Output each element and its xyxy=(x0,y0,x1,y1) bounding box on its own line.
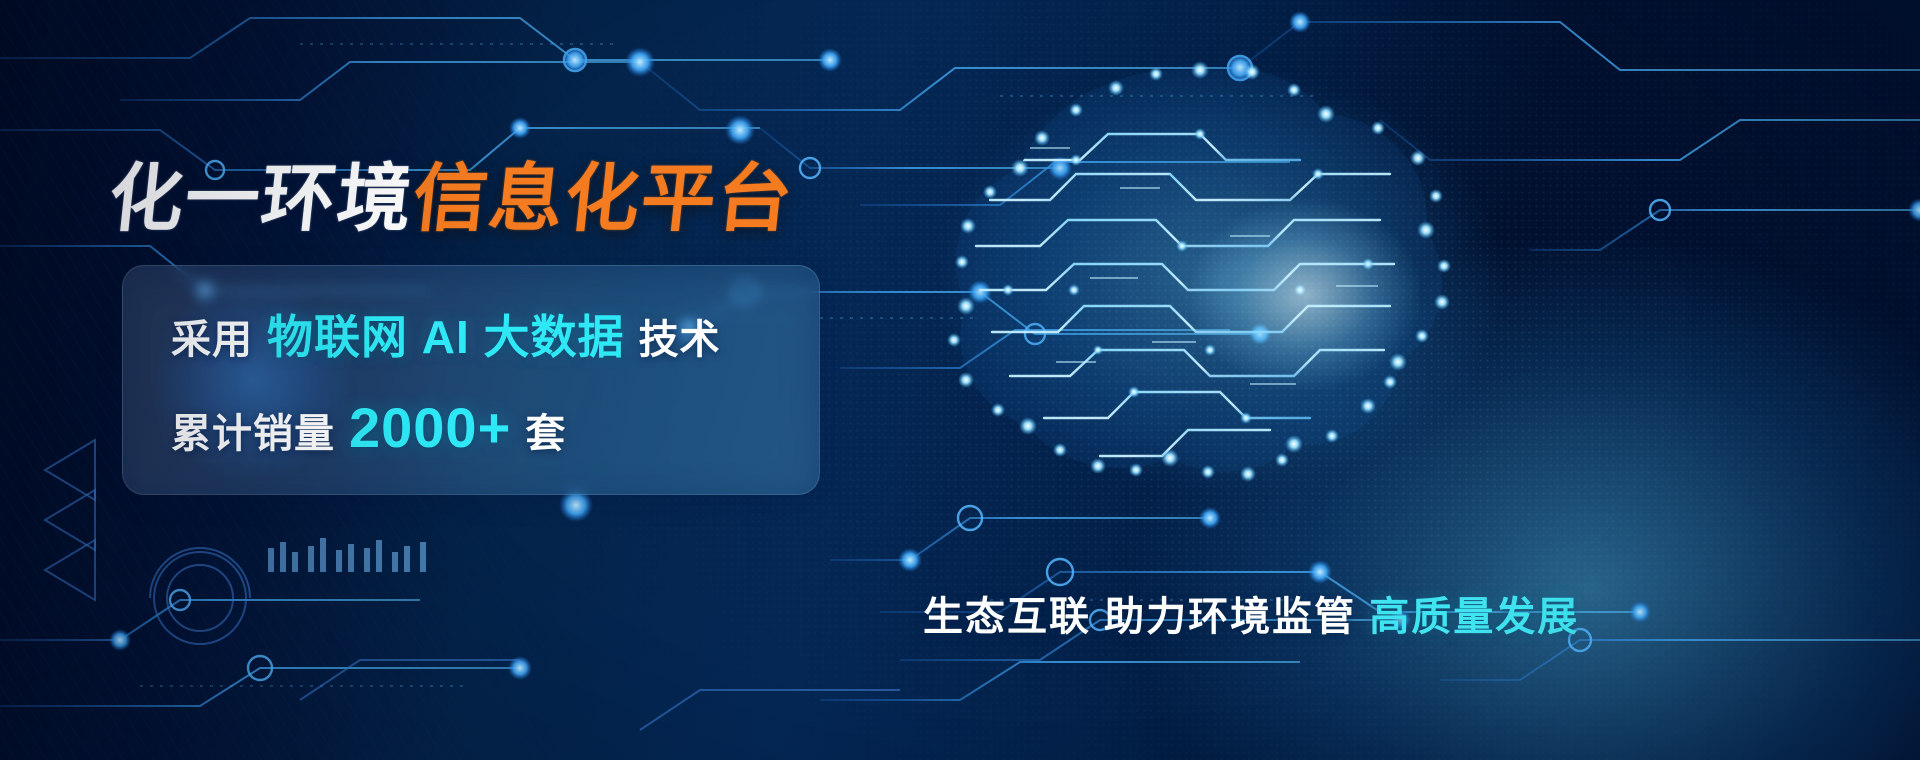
feature-line2-prefix: 累计销量 xyxy=(171,401,335,459)
banner-title-primary: 化一环境 xyxy=(104,139,419,246)
digital-brain-icon xyxy=(870,40,1570,500)
bar-meter xyxy=(268,538,426,572)
feature-line-technology: 采用 物联网 AI 大数据 技术 xyxy=(171,301,819,367)
banner-title-accent: 信息化平台 xyxy=(408,139,799,246)
banner-title: 化一环境 信息化平台 xyxy=(104,139,799,246)
feature-line1-highlight: 物联网 AI 大数据 xyxy=(267,301,625,367)
tagline-plain: 生态互联 助力环境监管 xyxy=(923,595,1356,639)
feature-line2-highlight: 2000+ xyxy=(349,395,511,460)
hero-banner: 化一环境 信息化平台 采用 物联网 AI 大数据 技术 累计销量 2000+ 套… xyxy=(0,0,1920,760)
feature-line2-suffix: 套 xyxy=(525,401,566,459)
feature-panel: 采用 物联网 AI 大数据 技术 累计销量 2000+ 套 xyxy=(122,265,820,495)
feature-line-sales: 累计销量 2000+ 套 xyxy=(171,395,819,460)
banner-tagline: 生态互联 助力环境监管 高质量发展 xyxy=(923,584,1579,642)
feature-line1-prefix: 采用 xyxy=(171,307,253,365)
tagline-accent: 高质量发展 xyxy=(1369,595,1579,639)
feature-line1-suffix: 技术 xyxy=(639,307,721,365)
